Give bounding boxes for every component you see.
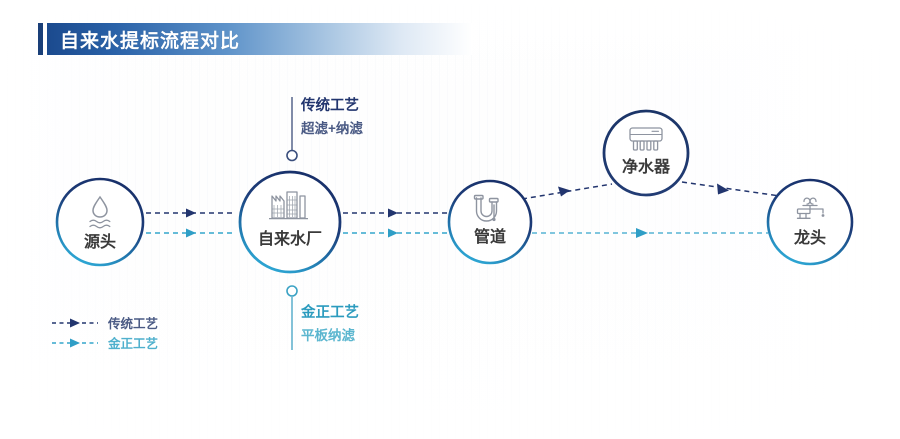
legend-item-traditional[interactable]: 传统工艺: [52, 316, 158, 331]
annotation-top-title: 传统工艺: [300, 96, 359, 114]
edge-arrowhead-source-plant-jinzheng: [186, 229, 196, 238]
node-source[interactable]: 源头: [57, 179, 143, 265]
flow-diagram: 传统工艺 超滤+纳滤 金正工艺 平板纳滤 源头: [0, 0, 900, 439]
annotation-bottom-subtitle: 平板纳滤: [301, 327, 355, 343]
edge-purifier-to-faucet-traditional: [682, 182, 780, 196]
edge-arrowhead-pipeline-purifier-traditional: [558, 187, 570, 197]
legend-label-jinzheng: 金正工艺: [107, 336, 158, 351]
annotation-bottom-jinzheng: 金正工艺 平板纳滤: [287, 286, 359, 350]
legend: 传统工艺 金正工艺: [52, 316, 158, 351]
node-pipeline[interactable]: 管道: [449, 181, 531, 263]
diagram-canvas: 自来水提标流程对比: [0, 0, 900, 439]
annotation-top-subtitle: 超滤+纳滤: [300, 120, 363, 136]
edge-arrowhead-plant-pipeline-traditional: [388, 209, 398, 218]
annotation-top-traditional: 传统工艺 超滤+纳滤: [287, 96, 363, 161]
legend-arrowhead-traditional: [70, 319, 80, 328]
legend-arrowhead-jinzheng: [70, 339, 80, 348]
annotation-bottom-title: 金正工艺: [300, 303, 359, 321]
annotation-top-endpoint-dot: [287, 151, 297, 161]
node-purifier[interactable]: 净水器: [604, 111, 688, 195]
edge-arrowhead-source-plant-traditional: [186, 209, 196, 218]
node-purifier-label: 净水器: [622, 157, 671, 176]
node-faucet[interactable]: 龙头: [768, 180, 852, 264]
node-plant-label: 自来水厂: [258, 229, 322, 248]
legend-item-jinzheng[interactable]: 金正工艺: [52, 336, 158, 351]
edge-arrowhead-plant-pipeline-jinzheng: [388, 229, 398, 238]
node-source-ring: [57, 179, 143, 265]
legend-label-traditional: 传统工艺: [107, 316, 158, 331]
node-plant[interactable]: 自来水厂: [240, 172, 340, 272]
annotation-bottom-endpoint-dot: [287, 286, 297, 296]
node-pipeline-label: 管道: [474, 227, 506, 246]
node-purifier-ring: [604, 111, 688, 195]
edge-arrowhead-pipeline-faucet-jinzheng: [636, 228, 648, 238]
node-plant-ring: [240, 172, 340, 272]
node-source-label: 源头: [84, 232, 116, 251]
node-pipeline-ring: [449, 181, 531, 263]
node-faucet-ring: [768, 180, 852, 264]
node-faucet-label: 龙头: [793, 228, 826, 247]
